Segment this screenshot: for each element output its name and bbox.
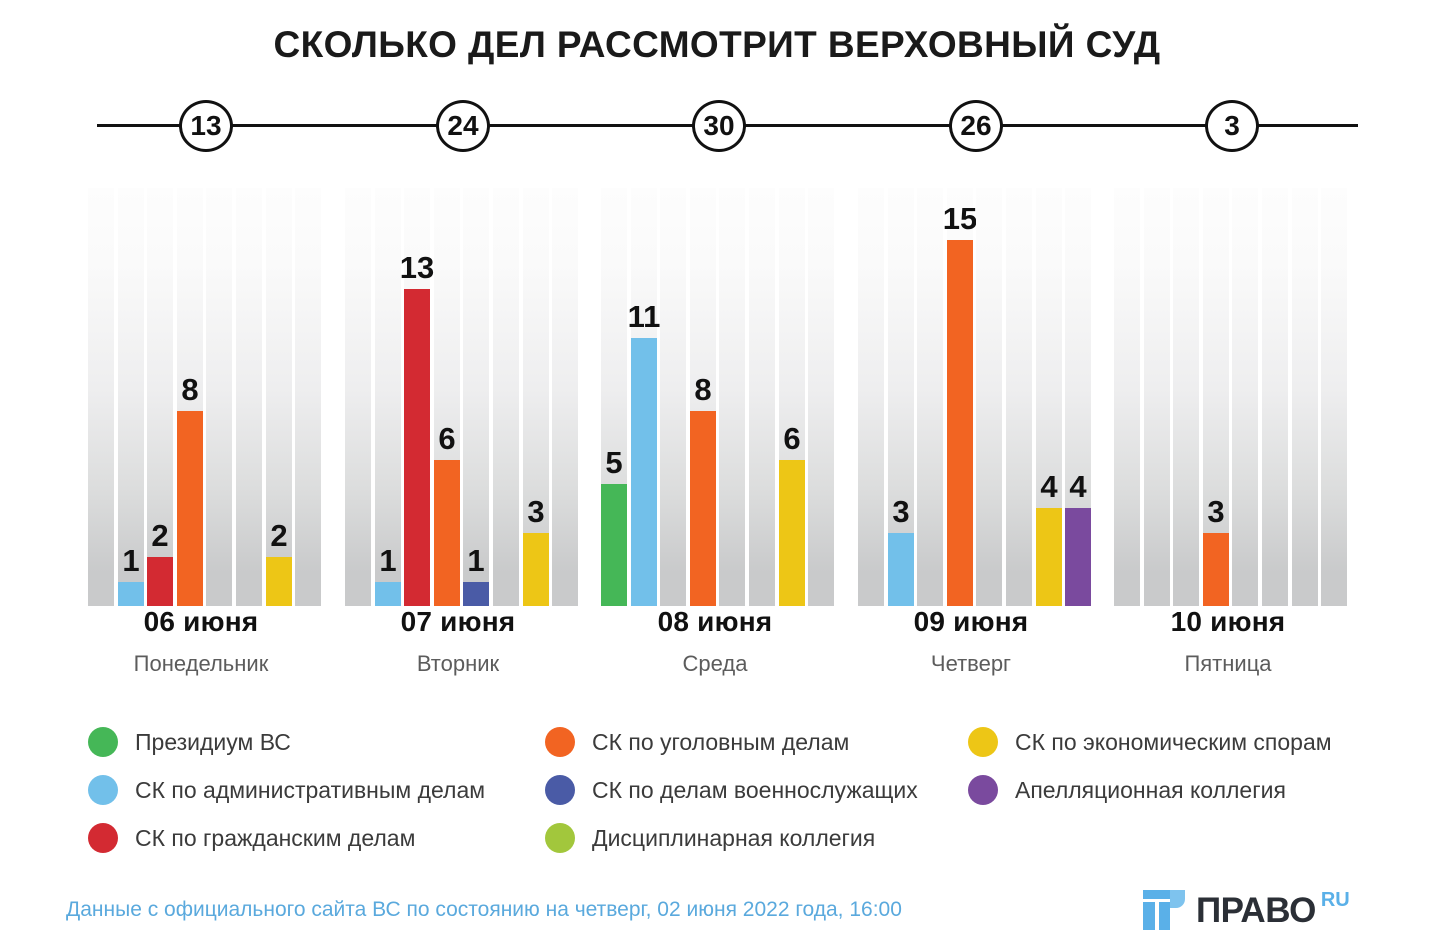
pravo-glyph-icon	[1143, 890, 1185, 930]
bar-slot	[1006, 188, 1032, 606]
timeline-node-2: 30	[692, 100, 746, 152]
pravo-mark-icon	[1143, 890, 1185, 930]
bar[interactable]	[601, 484, 627, 606]
bar-slot	[719, 188, 745, 606]
legend-item[interactable]: СК по уголовным делам	[545, 718, 918, 766]
bar-slot	[917, 188, 943, 606]
legend-color-swatch-icon	[88, 823, 118, 853]
legend-item-label: СК по делам военнослужащих	[592, 777, 918, 804]
source-note: Данные с официального сайта ВС по состоя…	[66, 898, 902, 922]
bar-value-label: 4	[1056, 471, 1100, 502]
bar[interactable]	[523, 533, 549, 606]
legend-item[interactable]: Президиум ВС	[88, 718, 485, 766]
legend-item[interactable]: Дисциплинарная коллегия	[545, 814, 918, 862]
legend-item-label: Дисциплинарная коллегия	[592, 825, 875, 852]
bar[interactable]	[177, 411, 203, 606]
legend-item[interactable]: Апелляционная коллегия	[968, 766, 1332, 814]
timeline-node-1: 24	[436, 100, 490, 152]
bar-slot	[1173, 188, 1199, 606]
bar-slot	[1262, 188, 1288, 606]
legend-color-swatch-icon	[88, 775, 118, 805]
timeline-node-4: 3	[1205, 100, 1259, 152]
legend-item-label: СК по экономическим спорам	[1015, 729, 1332, 756]
bar-slot	[345, 188, 371, 606]
bar-slot	[1292, 188, 1318, 606]
day-group-2: 51186	[601, 188, 837, 606]
bar-slot	[552, 188, 578, 606]
bar-slot	[206, 188, 232, 606]
day-group-3: 31544	[858, 188, 1094, 606]
legend-item[interactable]: СК по экономическим спорам	[968, 718, 1332, 766]
bar-slot	[1114, 188, 1140, 606]
page-title: СКОЛЬКО ДЕЛ РАССМОТРИТ ВЕРХОВНЫЙ СУД	[0, 24, 1434, 66]
bar[interactable]	[266, 557, 292, 606]
bar-value-label: 2	[138, 520, 182, 551]
chart-legend: Президиум ВССК по административным делам…	[0, 718, 1434, 868]
bar[interactable]	[779, 460, 805, 606]
legend-color-swatch-icon	[968, 775, 998, 805]
bar-slot	[1144, 188, 1170, 606]
day-labels: 06 июня Понедельник 07 июня Вторник 08 и…	[0, 606, 1434, 706]
bar-slot	[976, 188, 1002, 606]
bar[interactable]	[1036, 508, 1062, 606]
bar-slot	[749, 188, 775, 606]
day-weekday: Пятница	[1068, 651, 1388, 677]
day-group-0: 1282	[88, 188, 324, 606]
legend-item-label: СК по уголовным делам	[592, 729, 849, 756]
bar-slot	[493, 188, 519, 606]
bar-slot	[88, 188, 114, 606]
legend-color-swatch-icon	[545, 727, 575, 757]
legend-color-swatch-icon	[545, 823, 575, 853]
day-group-4: 3	[1114, 188, 1350, 606]
day-date: 10 июня	[1068, 606, 1388, 638]
bar[interactable]	[631, 338, 657, 606]
bar[interactable]	[463, 582, 489, 606]
bar[interactable]	[118, 582, 144, 606]
timeline-node-3: 26	[949, 100, 1003, 152]
bar-slot	[295, 188, 321, 606]
legend-item-label: СК по гражданским делам	[135, 825, 415, 852]
bar-chart: 128211361351186315443	[0, 188, 1434, 606]
legend-item[interactable]: СК по гражданским делам	[88, 814, 485, 862]
bar[interactable]	[434, 460, 460, 606]
day-label-4: 10 июня Пятница	[1068, 606, 1388, 677]
bar-value-label: 1	[454, 545, 498, 576]
timeline: 13 24 30 26 3	[97, 100, 1358, 152]
bar[interactable]	[375, 582, 401, 606]
legend-color-swatch-icon	[545, 775, 575, 805]
bar[interactable]	[947, 240, 973, 606]
logo-wordmark: ПРАВО	[1196, 893, 1316, 928]
bar-value-label: 5	[592, 447, 636, 478]
bar[interactable]	[888, 533, 914, 606]
bar[interactable]	[147, 557, 173, 606]
legend-column-1: СК по уголовным деламСК по делам военнос…	[545, 718, 918, 862]
infographic-root: СКОЛЬКО ДЕЛ РАССМОТРИТ ВЕРХОВНЫЙ СУД 13 …	[0, 0, 1434, 947]
legend-color-swatch-icon	[88, 727, 118, 757]
bar-slot	[808, 188, 834, 606]
legend-column-2: СК по экономическим спорамАпелляционная …	[968, 718, 1332, 814]
day-group-1: 113613	[345, 188, 581, 606]
legend-column-0: Президиум ВССК по административным делам…	[88, 718, 485, 862]
legend-item-label: СК по административным делам	[135, 777, 485, 804]
bar-slot	[858, 188, 884, 606]
legend-item[interactable]: СК по делам военнослужащих	[545, 766, 918, 814]
bar[interactable]	[1065, 508, 1091, 606]
legend-item[interactable]: СК по административным делам	[88, 766, 485, 814]
bar[interactable]	[690, 411, 716, 606]
logo-suffix: RU	[1321, 890, 1350, 910]
legend-color-swatch-icon	[968, 727, 998, 757]
bar-slot	[1321, 188, 1347, 606]
legend-item-label: Апелляционная коллегия	[1015, 777, 1286, 804]
bar[interactable]	[1203, 533, 1229, 606]
timeline-node-0: 13	[179, 100, 233, 152]
bar-value-label: 13	[395, 252, 439, 283]
bar-slot	[1232, 188, 1258, 606]
pravo-ru-logo: ПРАВО RU	[1143, 888, 1350, 932]
legend-item-label: Президиум ВС	[135, 729, 291, 756]
